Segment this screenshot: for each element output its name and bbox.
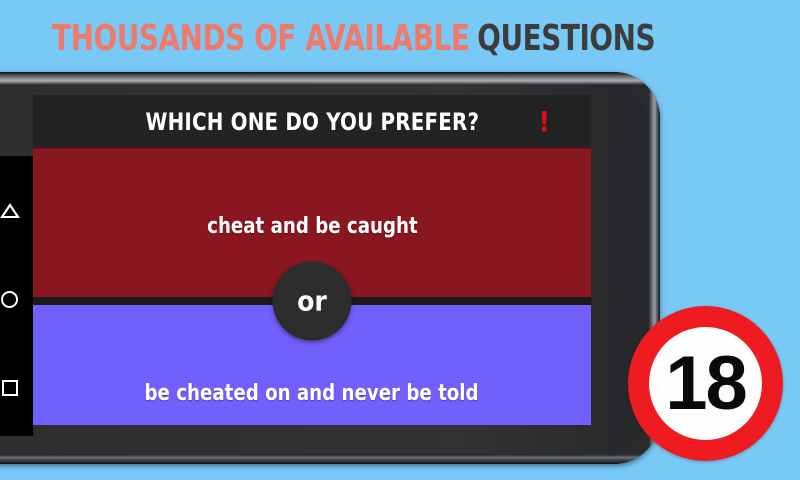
option-b-label: be cheated on and never be told — [145, 381, 479, 406]
nav-back-button[interactable] — [0, 198, 22, 222]
phone-mockup: WHICH ONE DO YOU PREFER? ! cheat and be … — [0, 72, 660, 464]
age-rating-value: 18 — [665, 346, 746, 422]
phone-rim-top — [0, 72, 660, 85]
age-rating-face: 18 — [649, 327, 762, 440]
option-a-label: cheat and be caught — [207, 214, 418, 239]
promo-headline-highlight: THOUSANDS OF AVAILABLE — [52, 21, 469, 57]
phone-shell: WHICH ONE DO YOU PREFER? ! cheat and be … — [0, 72, 660, 464]
or-separator-badge: or — [273, 262, 352, 341]
alert-icon[interactable]: ! — [539, 108, 550, 136]
app-screen: WHICH ONE DO YOU PREFER? ! cheat and be … — [33, 95, 591, 425]
triangle-icon — [0, 203, 20, 218]
nav-recents-button[interactable] — [0, 376, 22, 400]
promo-canvas: THOUSANDS OF AVAILABLE QUESTIONS — [0, 0, 800, 480]
square-icon — [2, 380, 18, 396]
age-rating-badge: 18 — [628, 306, 783, 461]
promo-headline: THOUSANDS OF AVAILABLE QUESTIONS — [52, 17, 655, 61]
android-navigation-bar — [0, 156, 33, 436]
promo-headline-rest: QUESTIONS — [477, 21, 655, 57]
circle-icon — [1, 291, 18, 308]
page-title: WHICH ONE DO YOU PREFER? — [145, 108, 479, 136]
or-separator-label: or — [297, 287, 327, 315]
phone-rim-bottom — [0, 455, 660, 464]
nav-home-button[interactable] — [0, 287, 22, 311]
app-header: WHICH ONE DO YOU PREFER? ! — [33, 95, 591, 149]
